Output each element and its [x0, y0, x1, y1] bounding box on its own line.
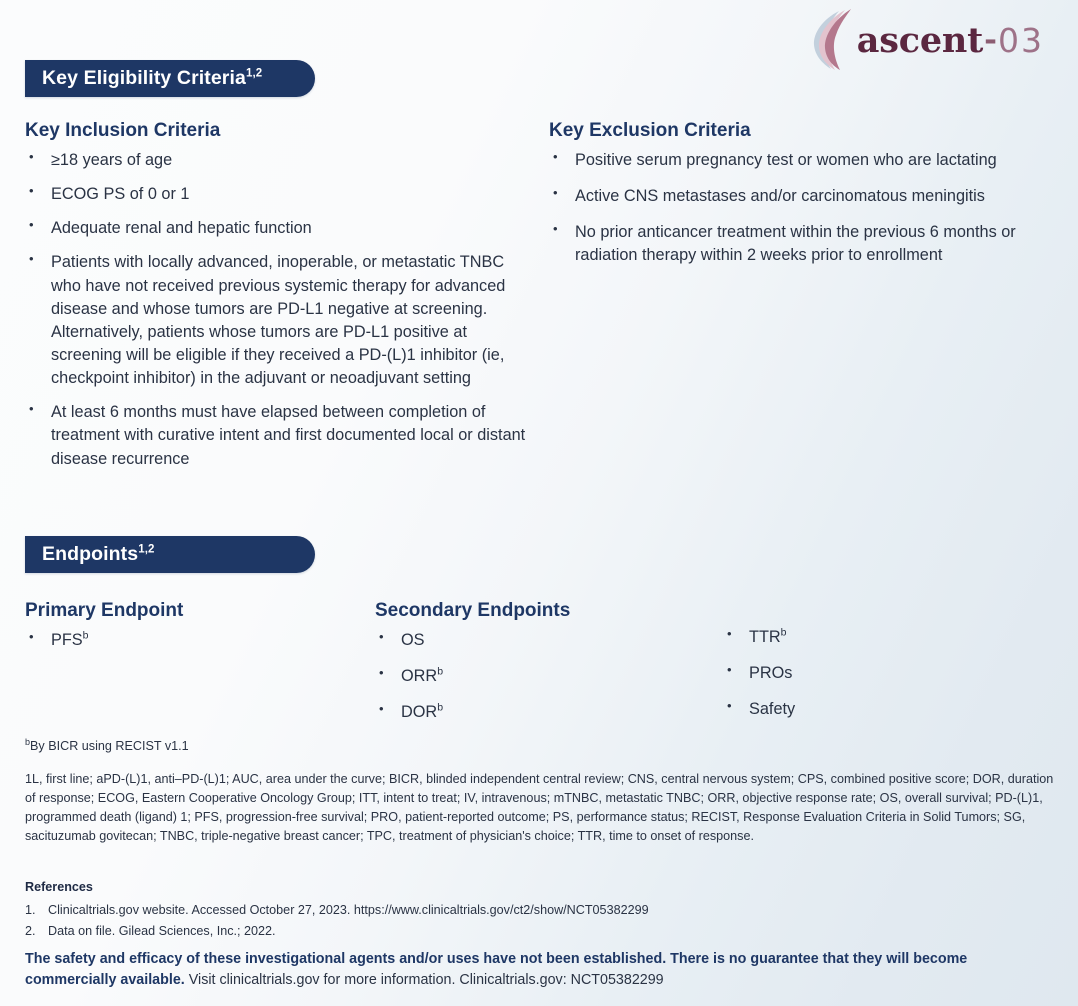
- section-banner-eligibility: Key Eligibility Criteria1,2: [25, 60, 315, 97]
- logo-trial-number: 03: [998, 24, 1044, 57]
- banner-eligibility-label: Key Eligibility Criteria1,2: [42, 67, 262, 90]
- banner-eligibility-sup: 1,2: [246, 68, 262, 80]
- list-item: ORRb: [375, 665, 723, 688]
- endpoints-section: Primary Endpoint PFSb Secondary Endpoint…: [25, 600, 1053, 737]
- list-item: Positive serum pregnancy test or women w…: [549, 149, 1053, 172]
- inclusion-criteria-heading: Key Inclusion Criteria: [25, 120, 529, 142]
- list-item: DORb: [375, 701, 723, 724]
- disclaimer-block: The safety and efficacy of these investi…: [25, 949, 1060, 992]
- exclusion-criteria-column: Key Exclusion Criteria Positive serum pr…: [549, 120, 1053, 482]
- inclusion-criteria-list: ≥18 years of age ECOG PS of 0 or 1 Adequ…: [25, 149, 529, 471]
- references-block: References 1. Clinicaltrials.gov website…: [25, 878, 1060, 943]
- exclusion-criteria-list: Positive serum pregnancy test or women w…: [549, 149, 1053, 268]
- reference-number: 1.: [25, 901, 36, 920]
- reference-text: Data on file. Gilead Sciences, Inc.; 202…: [48, 924, 276, 938]
- inclusion-criteria-column: Key Inclusion Criteria ≥18 years of age …: [25, 120, 529, 482]
- list-item: ≥18 years of age: [25, 149, 529, 172]
- secondary-endpoint-column: Secondary Endpoints OS ORRb DORb: [375, 600, 723, 737]
- list-item: ECOG PS of 0 or 1: [25, 183, 529, 206]
- exclusion-criteria-heading: Key Exclusion Criteria: [549, 120, 1053, 142]
- list-item: 1. Clinicaltrials.gov website. Accessed …: [25, 901, 1060, 920]
- list-item: TTRb: [723, 626, 1003, 649]
- list-item: No prior anticancer treatment within the…: [549, 221, 1053, 267]
- footnote-b-text: By BICR using RECIST v1.1: [30, 739, 189, 753]
- banner-endpoints-sup: 1,2: [138, 544, 154, 556]
- reference-text: Clinicaltrials.gov website. Accessed Oct…: [48, 903, 649, 917]
- banner-endpoints-label: Endpoints1,2: [42, 543, 155, 566]
- list-item: PFSb: [25, 629, 375, 652]
- primary-endpoint-heading: Primary Endpoint: [25, 600, 375, 622]
- disclaimer-regular-text: Visit clinicaltrials.gov for more inform…: [189, 972, 664, 988]
- list-item: Active CNS metastases and/or carcinomato…: [549, 185, 1053, 208]
- list-item: OS: [375, 629, 723, 652]
- secondary-endpoint-heading: Secondary Endpoints: [375, 600, 723, 622]
- references-list: 1. Clinicaltrials.gov website. Accessed …: [25, 901, 1060, 941]
- references-heading: References: [25, 878, 1060, 897]
- logo-dash: -: [983, 25, 998, 56]
- footnote-b: bBy BICR using RECIST v1.1: [25, 737, 1060, 756]
- list-item: Patients with locally advanced, inoperab…: [25, 251, 529, 390]
- abbreviations-block: 1L, first line; aPD-(L)1, anti–PD-(L)1; …: [25, 770, 1060, 847]
- list-item: Safety: [723, 698, 1003, 721]
- primary-endpoint-column: Primary Endpoint PFSb: [25, 600, 375, 737]
- primary-endpoint-list: PFSb: [25, 629, 375, 652]
- secondary-endpoint-list-continued: TTRb PROs Safety: [723, 626, 1003, 721]
- list-item: Adequate renal and hepatic function: [25, 217, 529, 240]
- secondary-endpoint-list: OS ORRb DORb: [375, 629, 723, 724]
- eligibility-section: Key Inclusion Criteria ≥18 years of age …: [25, 120, 1053, 482]
- list-item: 2. Data on file. Gilead Sciences, Inc.; …: [25, 922, 1060, 941]
- ascent-03-logo: ascent - 03: [809, 8, 1044, 72]
- list-item: At least 6 months must have elapsed betw…: [25, 401, 529, 470]
- ascent-ribbon-flame-icon: [809, 9, 855, 71]
- logo-wordmark: ascent: [857, 23, 983, 58]
- section-banner-endpoints: Endpoints1,2: [25, 536, 315, 573]
- reference-number: 2.: [25, 922, 36, 941]
- list-item: PROs: [723, 662, 1003, 685]
- secondary-endpoint-column-continued: TTRb PROs Safety: [723, 600, 1003, 737]
